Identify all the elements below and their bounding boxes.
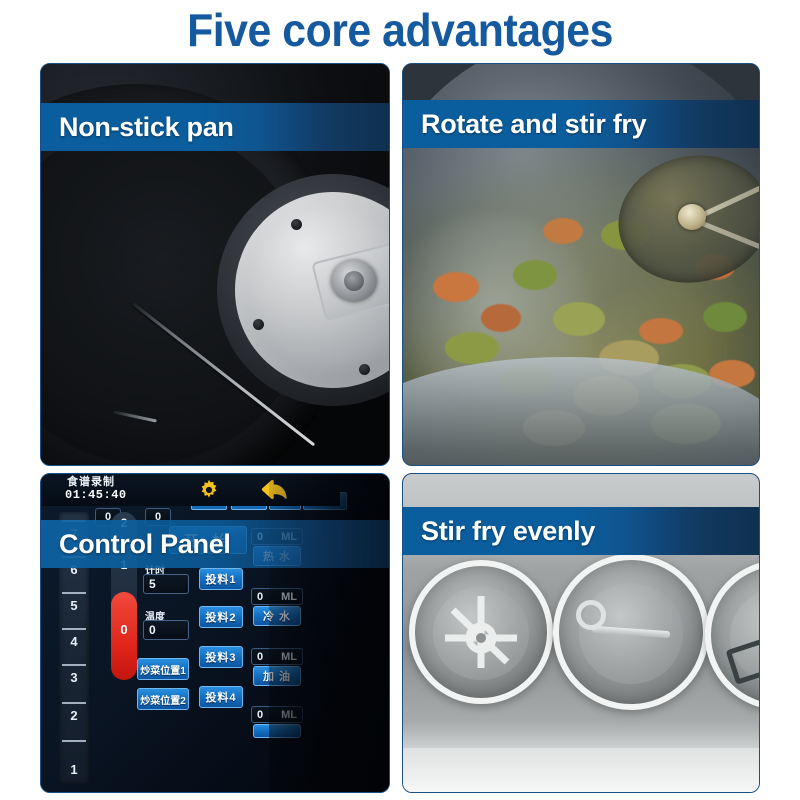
cold-water-amount-value: 0 bbox=[252, 591, 263, 603]
plate-bolt-icon bbox=[253, 319, 264, 330]
card-label-banner: Non-stick pan bbox=[41, 103, 389, 151]
food-bit bbox=[433, 272, 479, 302]
card-rotate-stir-fry: Rotate and stir fry bbox=[402, 63, 760, 466]
card-grid: Non-stick pan bbox=[40, 63, 760, 793]
card-label-banner: Stir fry evenly bbox=[403, 507, 759, 555]
food-bit bbox=[553, 302, 605, 336]
cooking-position-2-button[interactable]: 炒菜位置2 bbox=[137, 688, 189, 710]
card-stir-fry-evenly: Stir fry evenly bbox=[402, 473, 760, 793]
food-bit bbox=[703, 302, 747, 332]
temperature-field[interactable]: 0 bbox=[143, 620, 189, 640]
food-bit bbox=[639, 318, 683, 344]
wok-opening bbox=[553, 554, 709, 710]
card-label-text: Control Panel bbox=[41, 529, 231, 560]
timer-field-value: 5 bbox=[149, 577, 156, 591]
slider-tick-label: 2 bbox=[59, 708, 89, 723]
wok-opening bbox=[705, 560, 760, 710]
card-label-banner: Control Panel bbox=[41, 520, 389, 568]
card-label-text: Non-stick pan bbox=[41, 112, 234, 143]
advantages-infographic: Five core advantages Non-stick pan bbox=[0, 0, 800, 800]
page-title: Five core advantages bbox=[28, 2, 772, 58]
feed-2-button[interactable]: 投料2 bbox=[199, 606, 243, 628]
food-bit bbox=[481, 304, 521, 332]
plate-bolt-icon bbox=[359, 364, 370, 375]
food-bit bbox=[513, 260, 557, 290]
slider-tick-label: 1 bbox=[59, 762, 89, 777]
speed-current-value: 0 bbox=[111, 622, 137, 637]
card-label-banner: Rotate and stir fry bbox=[403, 100, 759, 148]
speed-slider-fill[interactable]: 0 bbox=[111, 592, 137, 680]
card-label-text: Rotate and stir fry bbox=[403, 109, 646, 140]
food-bit bbox=[543, 218, 583, 244]
cooking-position-1-button[interactable]: 炒菜位置1 bbox=[137, 658, 189, 680]
stir-paddle-hub bbox=[678, 204, 706, 230]
recording-timer: 01:45:40 bbox=[65, 488, 127, 503]
wok-stirrer-icon bbox=[439, 590, 523, 674]
feed-4-button[interactable]: 投料4 bbox=[199, 686, 243, 708]
add-oil-amount-value: 0 bbox=[252, 651, 263, 663]
extra-amount-value: 0 bbox=[252, 709, 263, 721]
slider-tick-label: 5 bbox=[59, 598, 89, 613]
card-control-panel: 食谱录制 01:45:40 bbox=[40, 473, 390, 793]
slider-tick-label: 4 bbox=[59, 634, 89, 649]
temperature-field-value: 0 bbox=[149, 623, 156, 637]
slider-tick-label: 3 bbox=[59, 670, 89, 685]
counter-surface bbox=[403, 748, 759, 792]
food-bit bbox=[445, 332, 499, 364]
card-non-stick-pan: Non-stick pan bbox=[40, 63, 390, 466]
feed-3-button[interactable]: 投料3 bbox=[199, 646, 243, 668]
feed-1-button[interactable]: 投料1 bbox=[199, 568, 243, 590]
plate-hub-center bbox=[344, 271, 364, 291]
gear-icon[interactable] bbox=[197, 478, 221, 502]
timer-field[interactable]: 5 bbox=[143, 574, 189, 594]
wok-opening bbox=[409, 560, 553, 704]
card-label-text: Stir fry evenly bbox=[403, 516, 595, 547]
plate-bolt-icon bbox=[291, 219, 302, 230]
recipe-recording-title: 食谱录制 bbox=[67, 475, 115, 489]
